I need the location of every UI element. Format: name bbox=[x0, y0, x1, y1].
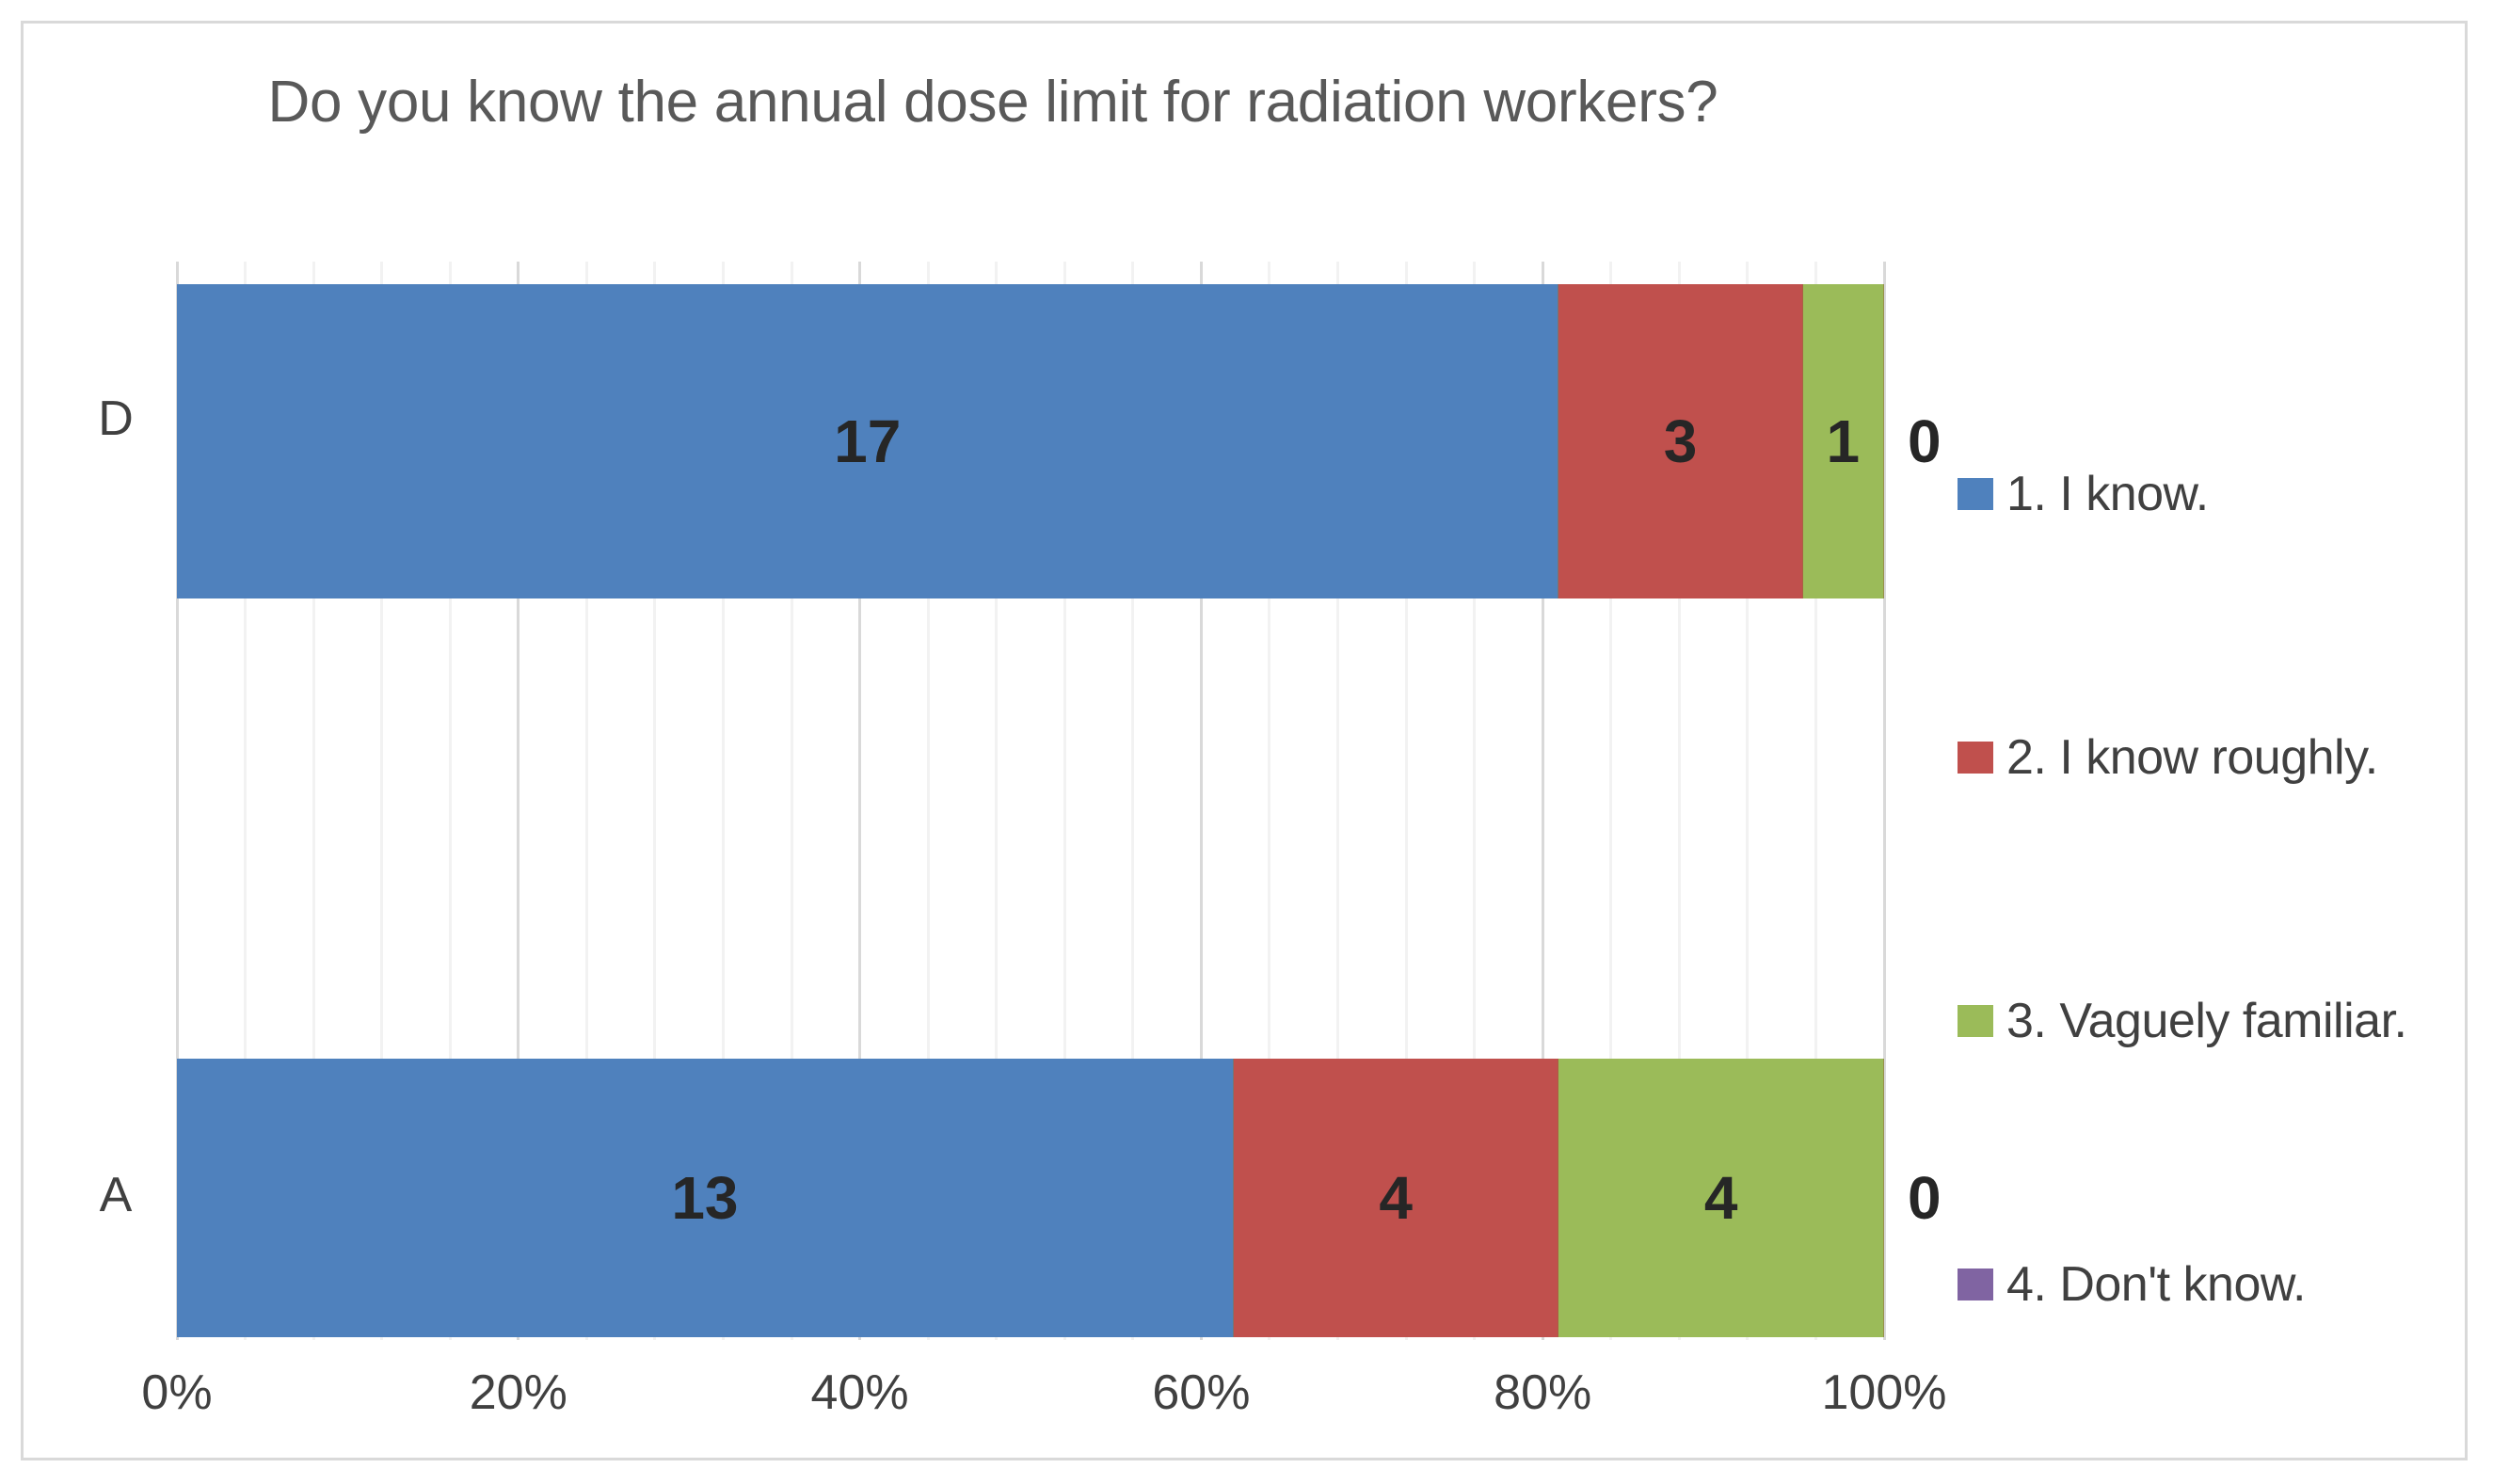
chart-legend: 1. I know.2. I know roughly.3. Vaguely f… bbox=[1958, 362, 2456, 1416]
chart-container: Do you know the annual dose limit for ra… bbox=[21, 21, 2468, 1460]
bar-segment-d-3[interactable]: 1 0 bbox=[1803, 284, 1884, 598]
plot-area: 17 3 1 0 13 4 4 0 bbox=[177, 262, 1884, 1340]
bar-row-d[interactable]: 17 3 1 0 bbox=[177, 284, 1884, 598]
bar-segment-a-1[interactable]: 13 bbox=[177, 1059, 1234, 1337]
legend-label-1: 1. I know. bbox=[2006, 466, 2209, 522]
category-label-a: A bbox=[69, 1167, 163, 1223]
data-label-d-4: 0 bbox=[1908, 411, 1942, 471]
bar-segment-a-3[interactable]: 4 0 bbox=[1558, 1059, 1884, 1337]
legend-swatch-series-4-icon bbox=[1958, 1269, 1993, 1300]
x-axis: 0%20%40%60%80%100% bbox=[177, 1364, 1884, 1430]
data-label-d-3: 1 bbox=[1827, 411, 1861, 471]
data-label-a-2: 4 bbox=[1379, 1168, 1413, 1228]
data-label-d-2: 3 bbox=[1664, 411, 1698, 471]
legend-item-3[interactable]: 3. Vaguely familiar. bbox=[1958, 889, 2456, 1153]
bar-segment-d-2[interactable]: 3 bbox=[1558, 284, 1802, 598]
category-label-d: D bbox=[69, 391, 163, 447]
data-label-a-4: 0 bbox=[1908, 1168, 1942, 1228]
chart-title: Do you know the annual dose limit for ra… bbox=[24, 69, 1962, 136]
bar-segment-d-1[interactable]: 17 bbox=[177, 284, 1558, 598]
x-axis-tick-label: 100% bbox=[1822, 1364, 1947, 1421]
x-axis-tick-label: 80% bbox=[1494, 1364, 1591, 1421]
legend-swatch-series-3-icon bbox=[1958, 1005, 1993, 1037]
legend-item-2[interactable]: 2. I know roughly. bbox=[1958, 626, 2456, 889]
legend-item-4[interactable]: 4. Don't know. bbox=[1958, 1153, 2456, 1416]
data-label-a-3: 4 bbox=[1704, 1168, 1738, 1228]
data-label-d-1: 17 bbox=[834, 411, 901, 471]
legend-swatch-series-2-icon bbox=[1958, 742, 1993, 774]
x-axis-tick-label: 60% bbox=[1152, 1364, 1250, 1421]
legend-swatch-series-1-icon bbox=[1958, 478, 1993, 510]
legend-label-4: 4. Don't know. bbox=[2006, 1256, 2306, 1313]
x-axis-tick-label: 0% bbox=[141, 1364, 212, 1421]
legend-item-1[interactable]: 1. I know. bbox=[1958, 362, 2456, 626]
x-axis-tick-label: 40% bbox=[811, 1364, 909, 1421]
bar-segment-a-2[interactable]: 4 bbox=[1234, 1059, 1559, 1337]
legend-label-3: 3. Vaguely familiar. bbox=[2006, 993, 2406, 1049]
legend-label-2: 2. I know roughly. bbox=[2006, 729, 2378, 786]
data-label-a-1: 13 bbox=[671, 1168, 738, 1228]
bar-row-a[interactable]: 13 4 4 0 bbox=[177, 1059, 1884, 1337]
x-axis-tick-label: 20% bbox=[470, 1364, 567, 1421]
